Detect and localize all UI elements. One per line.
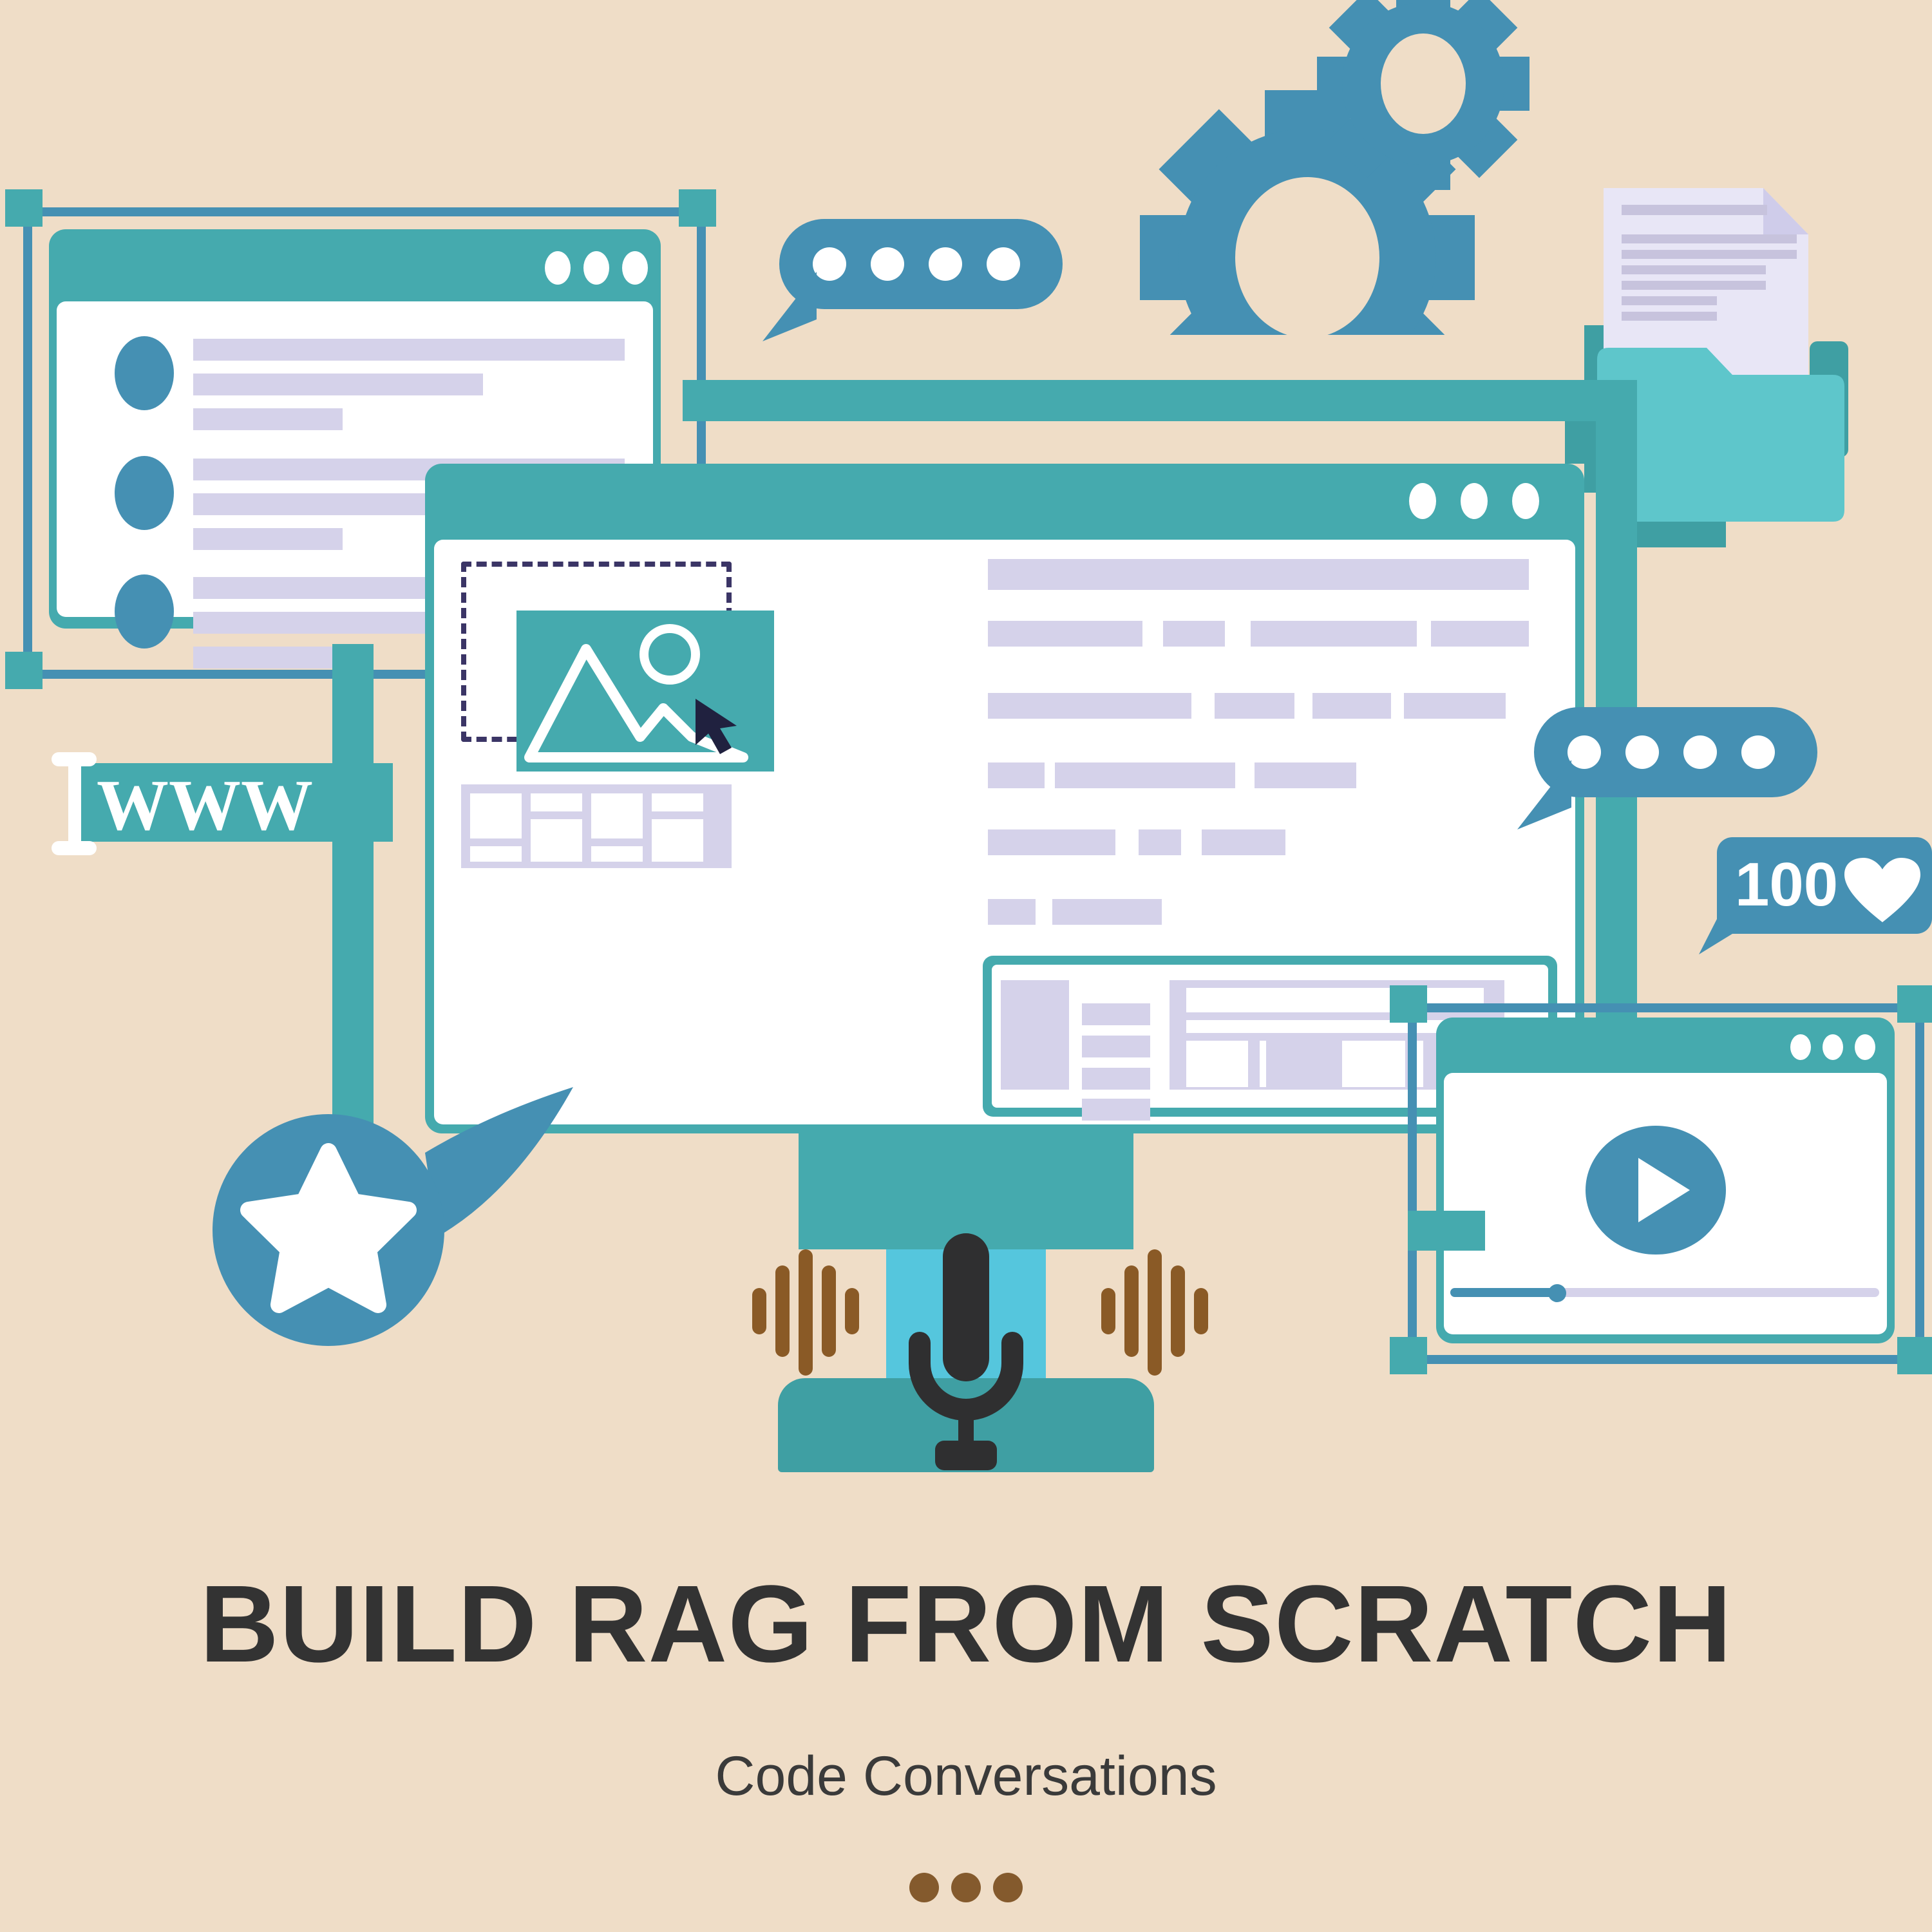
chart-bar-gap: [1260, 1041, 1266, 1087]
video-handle-tl[interactable]: [1390, 985, 1427, 1023]
list-item: [193, 408, 343, 430]
microphone-icon[interactable]: [908, 1233, 1024, 1491]
text-line: [1431, 621, 1529, 647]
text-line: [1312, 693, 1391, 719]
play-icon[interactable]: [1586, 1126, 1726, 1255]
likes-badge[interactable]: 100: [1717, 837, 1932, 934]
list-item: [193, 528, 343, 550]
video-progress-knob[interactable]: [1548, 1284, 1566, 1302]
waveform-bar: [822, 1265, 836, 1357]
pager-dot-3[interactable]: [993, 1873, 1023, 1902]
window-dot-2[interactable]: [1461, 483, 1488, 519]
pager-dot-1[interactable]: [909, 1873, 939, 1902]
pager-dot-2[interactable]: [951, 1873, 981, 1902]
bubble-dot: [1625, 735, 1659, 769]
bubble-dot: [1683, 735, 1717, 769]
waveform-bar: [775, 1265, 790, 1357]
window-dot-1[interactable]: [545, 251, 571, 285]
text-line: [988, 762, 1045, 788]
window-dot-3[interactable]: [622, 251, 648, 285]
grid-cell: [591, 793, 643, 838]
connector-horizontal-top: [683, 380, 1636, 421]
chart-bar-gap: [1417, 1041, 1423, 1087]
text-line: [1255, 762, 1356, 788]
likes-count: 100: [1735, 854, 1838, 916]
list-item: [193, 374, 483, 395]
bubble-dot: [929, 247, 962, 281]
ibeam-cursor-stem: [68, 752, 81, 855]
text-line: [988, 559, 1529, 590]
text-line: [1052, 899, 1162, 925]
grid-cell: [531, 793, 582, 811]
selection-handle-tl[interactable]: [5, 189, 43, 227]
selection-handle-tr[interactable]: [679, 189, 716, 227]
window-dot-1[interactable]: [1790, 1034, 1811, 1060]
www-badge-label: WWW: [97, 770, 367, 841]
chart-sidebar-block: [1082, 1036, 1150, 1057]
video-progress-fill: [1450, 1288, 1558, 1297]
video-player-body: [1444, 1073, 1887, 1334]
bubble-dot: [871, 247, 904, 281]
video-selection-bottom: [1408, 1355, 1924, 1364]
waveform-bar: [1194, 1288, 1208, 1334]
heart-icon: [1844, 858, 1920, 923]
window-dot-2[interactable]: [1823, 1034, 1843, 1060]
illustration-canvas: WWW: [0, 0, 1932, 1932]
likes-badge-tail: [1698, 887, 1749, 958]
text-line: [1404, 693, 1506, 719]
video-handle-bl[interactable]: [1390, 1337, 1427, 1374]
selection-frame-top: [23, 207, 706, 216]
gear-small-icon: [1314, 0, 1533, 193]
typing-bubble-right-tail: [1516, 759, 1593, 836]
grid-cell: [470, 793, 522, 838]
waveform-bar: [752, 1288, 766, 1334]
text-line: [988, 693, 1191, 719]
avatar: [115, 574, 174, 649]
text-line: [1139, 829, 1181, 855]
arrow-cursor[interactable]: [693, 697, 741, 757]
grid-cell: [652, 793, 703, 811]
ibeam-cursor-bottom: [52, 841, 97, 855]
grid-cell: [470, 846, 522, 862]
avatar: [115, 336, 174, 410]
text-line: [1163, 621, 1225, 647]
avatar: [115, 456, 174, 530]
monitor-window-body: [434, 540, 1575, 1124]
star-badge[interactable]: [213, 1075, 586, 1365]
list-item: [193, 339, 625, 361]
chart-bar: [1349, 1041, 1405, 1087]
waveform-bar: [1101, 1288, 1115, 1334]
thumbnail-grid[interactable]: [461, 784, 732, 868]
chart-sidebar-block: [1082, 1068, 1150, 1090]
bubble-dot: [1741, 735, 1775, 769]
page-subtitle: Code Conversations: [0, 1747, 1932, 1806]
page-title: BUILD RAG FROM SCRATCH: [0, 1566, 1932, 1682]
text-line: [1251, 621, 1417, 647]
video-player-window[interactable]: [1436, 1018, 1895, 1343]
window-dot-3[interactable]: [1512, 483, 1539, 519]
text-line: [1055, 762, 1235, 788]
selection-frame-right: [697, 207, 706, 478]
video-selection-left: [1408, 1003, 1417, 1364]
waveform-bar: [1148, 1249, 1162, 1376]
window-dot-1[interactable]: [1409, 483, 1436, 519]
bubble-dot: [987, 247, 1020, 281]
waveform-bar: [1171, 1265, 1185, 1357]
selection-frame-left: [23, 207, 32, 677]
window-dot-2[interactable]: [583, 251, 609, 285]
waveform-bar: [845, 1288, 859, 1334]
video-handle-br[interactable]: [1897, 1337, 1932, 1374]
chart-bar-gap: [1342, 1041, 1349, 1087]
typing-bubble-top-tail: [761, 270, 838, 348]
chart-sidebar-block: [1001, 980, 1069, 1090]
monitor-neck: [799, 1133, 1133, 1249]
connector-to-video: [1408, 1211, 1485, 1251]
text-line: [988, 829, 1115, 855]
text-line: [988, 899, 1036, 925]
video-progress-track[interactable]: [1450, 1288, 1879, 1297]
video-selection-right: [1915, 1003, 1924, 1364]
waveform-bar: [799, 1249, 813, 1376]
grid-cell: [591, 846, 643, 862]
grid-cell: [652, 819, 703, 862]
list-item: [193, 647, 343, 668]
text-line: [988, 621, 1142, 647]
text-line: [1215, 693, 1294, 719]
waveform-bar: [1124, 1265, 1139, 1357]
video-selection-top: [1408, 1003, 1924, 1012]
selection-handle-bl[interactable]: [5, 652, 43, 689]
grid-cell: [531, 819, 582, 862]
chart-sidebar-block: [1082, 1003, 1150, 1025]
window-dot-3[interactable]: [1855, 1034, 1875, 1060]
text-line: [1202, 829, 1285, 855]
chart-bar: [1186, 1041, 1248, 1087]
video-handle-tr[interactable]: [1897, 985, 1932, 1023]
chart-sidebar-block: [1082, 1099, 1150, 1121]
